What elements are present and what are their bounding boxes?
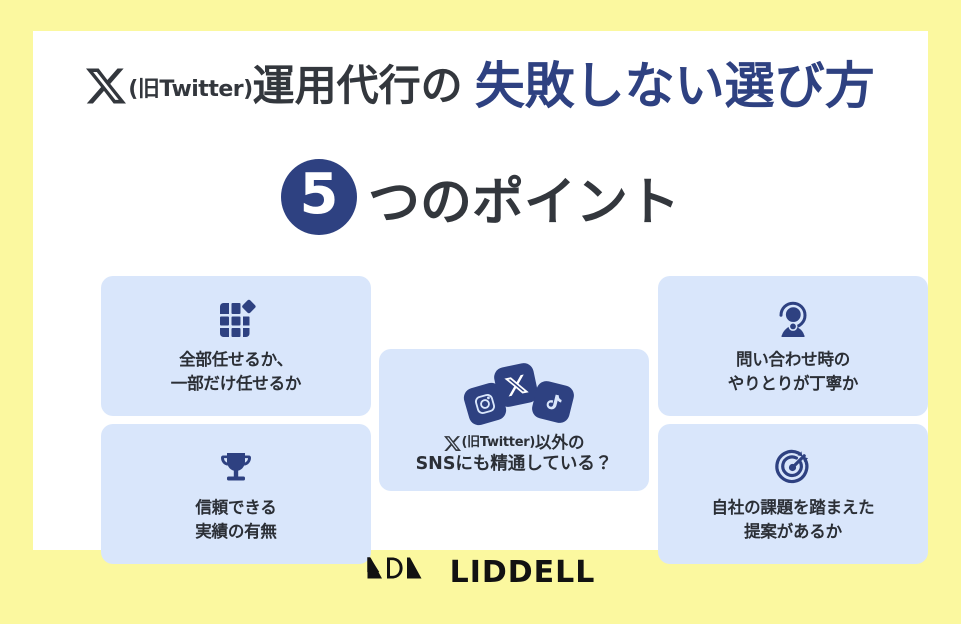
headline-line-1: (旧Twitter) 運用代行の 失敗しない選び方: [33, 61, 928, 111]
footer-logo: LIDDELL: [0, 556, 961, 588]
headline-suffix-text: つのポイント: [368, 160, 680, 235]
target-arrow-icon: [770, 444, 816, 490]
grid-squares-icon: [213, 296, 259, 342]
card-label: 信頼できる 実績の有無: [195, 496, 277, 544]
point-count-badge: 5: [281, 159, 357, 235]
card-top-left[interactable]: 全部任せるか、 一部だけ任せるか: [101, 276, 371, 416]
center-card-line1-text: 以外の: [535, 433, 585, 453]
headline-accent-text: 失敗しない選び方: [475, 61, 875, 111]
liddell-mark-icon: [366, 556, 440, 588]
logo-wordmark: LIDDELL: [450, 558, 596, 588]
trophy-icon: [213, 444, 259, 490]
infographic-root: (旧Twitter) 運用代行の 失敗しない選び方 5 つのポイント: [0, 0, 961, 624]
support-headset-icon: [770, 296, 816, 342]
card-bottom-left[interactable]: 信頼できる 実績の有無: [101, 424, 371, 564]
center-card-line-2: SNSにも精通している？: [416, 453, 613, 477]
center-card-line-1: (旧Twitter) 以外の: [444, 433, 585, 453]
center-card-former-name: (旧Twitter): [462, 435, 535, 451]
card-label: 全部任せるか、 一部だけ任せるか: [171, 348, 301, 396]
white-panel: (旧Twitter) 運用代行の 失敗しない選び方 5 つのポイント: [33, 31, 928, 550]
headline-row: (旧Twitter) 運用代行の 失敗しない選び方: [86, 61, 874, 111]
x-logo-icon: [444, 435, 461, 452]
card-label: 問い合わせ時の やりとりが丁寧か: [728, 348, 858, 396]
card-bottom-right[interactable]: 自社の課題を踏まえた 提案があるか: [658, 424, 928, 564]
card-top-right[interactable]: 問い合わせ時の やりとりが丁寧か: [658, 276, 928, 416]
card-label: 自社の課題を踏まえた 提案があるか: [711, 496, 874, 544]
sns-badge-group: [434, 363, 594, 425]
headline-line-2: 5 つのポイント: [33, 159, 928, 235]
headline-main-text: 運用代行の: [253, 65, 463, 107]
card-center[interactable]: (旧Twitter) 以外の SNSにも精通している？: [379, 349, 649, 491]
x-logo-icon: [86, 66, 126, 106]
headline-former-name: (旧Twitter): [128, 79, 252, 101]
tiktok-icon: [530, 379, 576, 425]
